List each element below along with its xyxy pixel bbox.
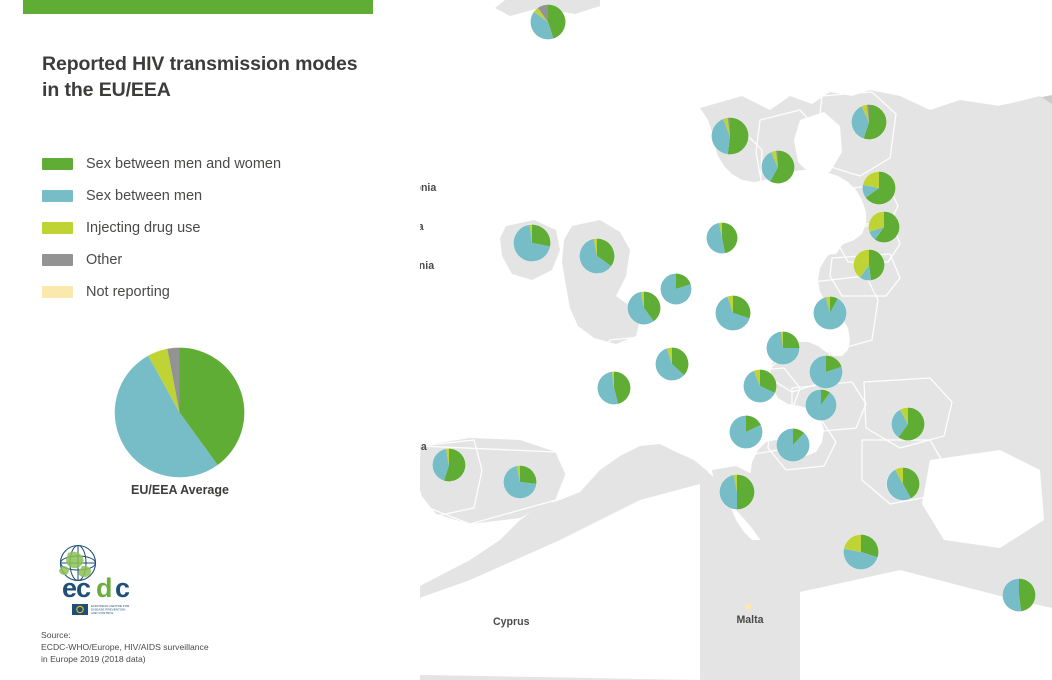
country-pie-ireland[interactable]	[513, 224, 551, 262]
left-info-panel: Reported HIV transmission modesin the EU…	[0, 0, 420, 680]
country-pie-austria[interactable]	[743, 369, 777, 403]
country-pie-latvia[interactable]	[868, 211, 900, 243]
legend-item-idu[interactable]: Injecting drug use	[42, 212, 372, 244]
pie-svg	[743, 369, 777, 403]
legend: Sex between men and women Sex between me…	[42, 148, 372, 308]
eu-average-pie	[114, 347, 245, 478]
country-pie-portugal[interactable]	[432, 448, 466, 482]
svg-text:d: d	[96, 573, 112, 603]
country-pie-cyprus[interactable]	[1002, 578, 1036, 612]
pie-svg	[597, 371, 631, 405]
pie-svg	[853, 249, 885, 281]
legend-swatch-heterosexual	[42, 158, 73, 170]
country-label-malta: Malta	[736, 615, 763, 627]
country-pie-belgium[interactable]	[627, 291, 661, 325]
pie-svg	[719, 474, 755, 510]
pie-svg	[886, 467, 920, 501]
eu-flag-icon	[72, 604, 88, 615]
pie-svg	[1002, 578, 1036, 612]
legend-item-other[interactable]: Other	[42, 244, 372, 276]
country-pie-estonia[interactable]	[862, 171, 896, 205]
country-pie-denmark[interactable]	[706, 222, 738, 254]
country-pie-hungary[interactable]	[805, 389, 837, 421]
ecdc-logo: ec d c EUROPEAN CENTRE FOR DISEASE PREVE…	[44, 544, 164, 618]
country-pie-italy[interactable]	[719, 474, 755, 510]
country-pie-slovenia[interactable]	[729, 415, 763, 449]
pie-svg	[776, 428, 810, 462]
country-pie-luxembourg[interactable]	[655, 347, 689, 381]
country-pie-greece[interactable]	[843, 534, 879, 570]
pie-svg	[706, 222, 738, 254]
pie-svg	[513, 224, 551, 262]
pie-svg	[503, 465, 537, 499]
legend-swatch-msm	[42, 190, 73, 202]
country-pie-iceland[interactable]	[530, 4, 566, 40]
country-label-cyprus: Cyprus	[493, 617, 530, 629]
country-pie-netherlands[interactable]	[660, 273, 692, 305]
legend-label-not-reporting: Not reporting	[86, 284, 170, 300]
country-pie-croatia[interactable]	[776, 428, 810, 462]
page-title: Reported HIV transmission modesin the EU…	[42, 52, 387, 104]
country-pie-bulgaria[interactable]	[886, 467, 920, 501]
country-pie-czech-republic[interactable]	[766, 331, 800, 365]
legend-item-msm[interactable]: Sex between men	[42, 180, 372, 212]
legend-item-heterosexual[interactable]: Sex between men and women	[42, 148, 372, 180]
pie-svg	[715, 295, 751, 331]
pie-svg	[655, 347, 689, 381]
pie-svg	[761, 150, 795, 184]
pie-svg	[843, 534, 879, 570]
pie-svg	[711, 117, 749, 155]
infographic-canvas: Iceland Norway Sweden Finland Denmark Es…	[0, 0, 1052, 680]
country-pie-slovakia[interactable]	[809, 355, 843, 389]
eu-average-chart: EU/EEA Average	[114, 347, 246, 507]
pie-svg	[891, 407, 925, 441]
legend-label-msm: Sex between men	[86, 188, 202, 204]
legend-label-heterosexual: Sex between men and women	[86, 156, 281, 172]
ecdc-subtitle: EUROPEAN CENTRE FOR DISEASE PREVENTION A…	[91, 604, 130, 615]
legend-label-idu: Injecting drug use	[86, 220, 200, 236]
svg-text:c: c	[115, 573, 130, 603]
source-note: Source:ECDC-WHO/Europe, HIV/AIDS surveil…	[41, 629, 281, 666]
country-pie-united-kingdom[interactable]	[579, 238, 615, 274]
country-pie-lithuania[interactable]	[853, 249, 885, 281]
pie-svg	[766, 331, 800, 365]
pie-svg	[805, 389, 837, 421]
pie-svg	[627, 291, 661, 325]
pie-svg	[530, 4, 566, 40]
svg-text:AND CONTROL: AND CONTROL	[91, 611, 114, 615]
legend-swatch-not-reporting	[42, 286, 73, 298]
country-pie-sweden[interactable]	[761, 150, 795, 184]
country-pie-poland[interactable]	[813, 296, 847, 330]
pie-svg	[579, 238, 615, 274]
legend-label-other: Other	[86, 252, 122, 268]
legend-item-not-reporting[interactable]: Not reporting	[42, 276, 372, 308]
pie-svg	[660, 273, 692, 305]
pie-svg	[862, 171, 896, 205]
eu-average-label: EU/EEA Average	[90, 483, 270, 497]
legend-swatch-idu	[42, 222, 73, 234]
pie-svg	[813, 296, 847, 330]
pie-svg	[868, 211, 900, 243]
accent-bar	[23, 0, 373, 14]
country-pie-spain[interactable]	[503, 465, 537, 499]
not-reporting-marker-malta[interactable]	[745, 604, 751, 609]
country-pie-france[interactable]	[597, 371, 631, 405]
pie-svg	[729, 415, 763, 449]
svg-text:ec: ec	[62, 573, 91, 603]
country-pie-norway[interactable]	[711, 117, 749, 155]
legend-swatch-other	[42, 254, 73, 266]
pie-svg	[432, 448, 466, 482]
country-pie-romania[interactable]	[891, 407, 925, 441]
country-pie-germany[interactable]	[715, 295, 751, 331]
ecdc-wordmark: ec d c	[62, 573, 130, 603]
pie-svg	[809, 355, 843, 389]
pie-svg	[851, 104, 887, 140]
country-pie-finland[interactable]	[851, 104, 887, 140]
